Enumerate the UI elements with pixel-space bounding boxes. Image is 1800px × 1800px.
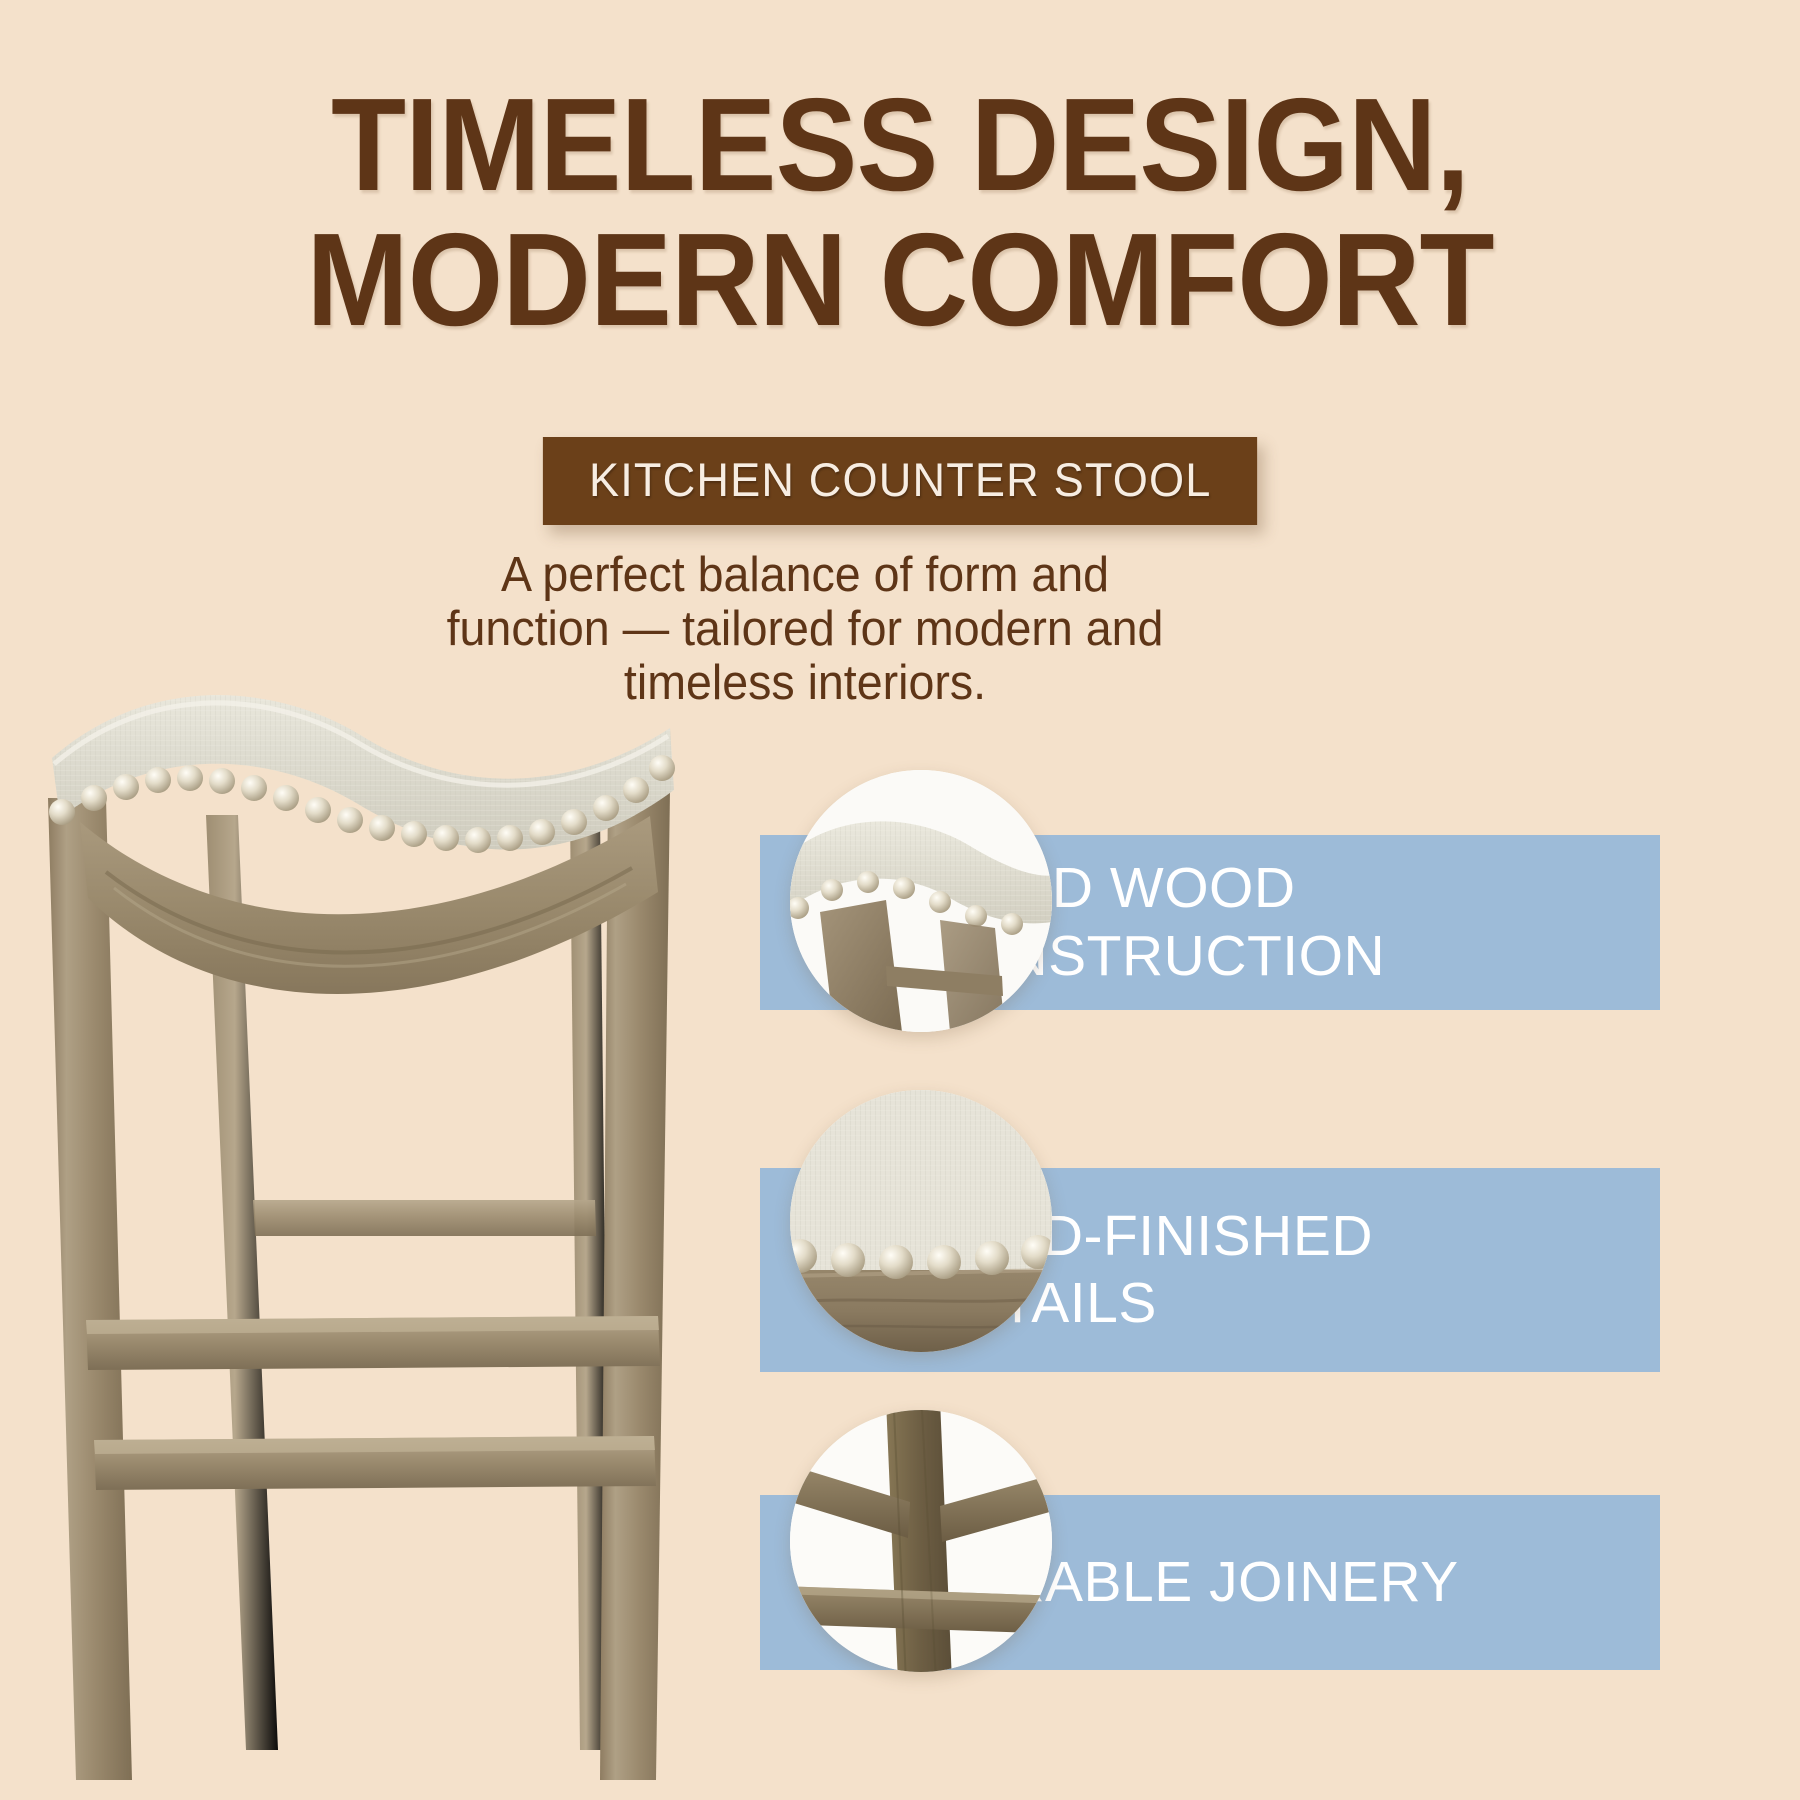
subtitle-line-1: A perfect balance of form and (411, 549, 1200, 603)
stool-illustration (10, 640, 710, 1800)
feature-detail-circle-1 (790, 770, 1052, 1032)
badge-container: KITCHEN COUNTER STOOL (0, 437, 1800, 525)
seat-corner-closeup-image (790, 770, 1052, 1032)
feature-detail-circle-2 (790, 1090, 1052, 1352)
infographic-canvas: TIMELESS DESIGN, MODERN COMFORT KITCHEN … (0, 0, 1800, 1800)
nailhead-trim-closeup-image (790, 1090, 1052, 1352)
product-category-badge: KITCHEN COUNTER STOOL (543, 437, 1258, 525)
headline-line-2: MODERN COMFORT (63, 213, 1737, 348)
product-image-main (10, 640, 710, 1800)
joinery-closeup-image (790, 1410, 1052, 1672)
headline-line-1: TIMELESS DESIGN, (63, 78, 1737, 213)
page-title: TIMELESS DESIGN, MODERN COMFORT (63, 78, 1737, 347)
feature-detail-circle-3 (790, 1410, 1052, 1672)
